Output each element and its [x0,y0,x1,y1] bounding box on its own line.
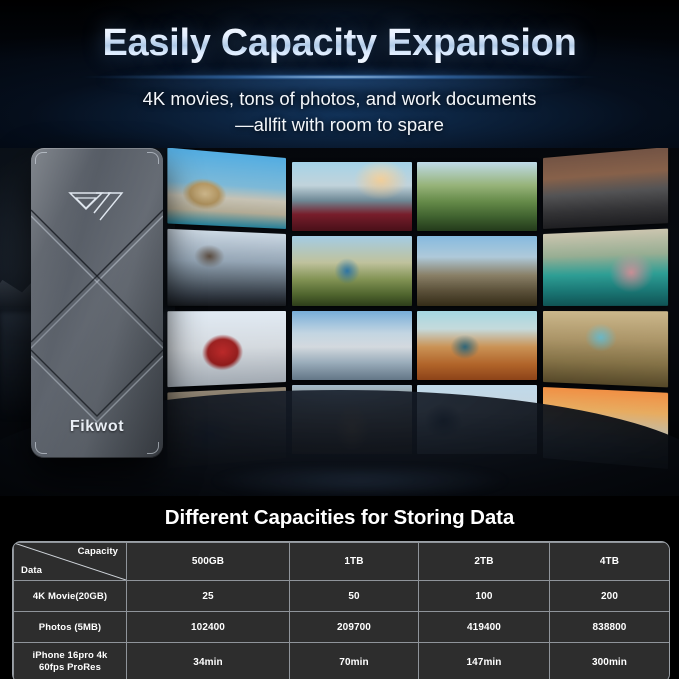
capacity-table: Capacity Data 500GB 1TB 2TB 4TB 4K Movie… [13,542,670,679]
device-x-pattern-icon [31,200,163,430]
cell-4k-movie-500gb: 25 [127,581,290,612]
table-row: iPhone 16pro 4k 60fps ProRes 34min 70min… [14,643,670,679]
cell-4k-movie-2tb: 100 [419,581,550,612]
gallery-photo [167,229,286,305]
row-label-iphone-line-1: iPhone 16pro 4k [14,650,126,662]
gallery-photo [417,311,537,380]
cell-iphone-4tb: 300min [550,643,670,679]
gallery-photo [417,236,537,305]
gallery-photo [543,229,668,306]
hero-subtitle: 4K movies, tons of photos, and work docu… [0,86,679,138]
cell-photos-1tb: 209700 [290,612,419,643]
gallery-photo [543,147,668,229]
cell-4k-movie-1tb: 50 [290,581,419,612]
ssd-device: Fikwot [31,148,163,458]
floor-reflection [150,468,570,494]
page-title: Easily Capacity Expansion [0,22,679,65]
cell-4k-movie-4tb: 200 [550,581,670,612]
row-label-4k-movie: 4K Movie(20GB) [14,581,127,612]
table-corner-cell: Capacity Data [14,543,127,581]
cell-photos-2tb: 419400 [419,612,550,643]
gallery-photo [292,236,412,305]
promo-page: Fikwot Easily Capacity Expansion 4K movi… [0,0,679,679]
gallery-photo [167,148,286,230]
table-row: Photos (5MB) 102400 209700 419400 838800 [14,612,670,643]
capacity-table-wrapper: Capacity Data 500GB 1TB 2TB 4TB 4K Movie… [12,541,670,679]
column-header-1tb: 1TB [290,543,419,581]
hero-subtitle-line-2: —allfit with room to spare [0,112,679,138]
cell-iphone-2tb: 147min [419,643,550,679]
hero-header: Easily Capacity Expansion 4K movies, ton… [0,0,679,148]
table-row: 4K Movie(20GB) 25 50 100 200 [14,581,670,612]
cell-iphone-1tb: 70min [290,643,419,679]
cell-photos-4tb: 838800 [550,612,670,643]
row-label-photos: Photos (5MB) [14,612,127,643]
corner-accent-icon [35,152,47,164]
gallery-photo [292,311,412,380]
row-label-iphone: iPhone 16pro 4k 60fps ProRes [14,643,127,679]
gallery-photo [167,311,286,387]
gallery-photo [543,311,668,388]
column-header-2tb: 2TB [419,543,550,581]
row-label-iphone-line-2: 60fps ProRes [14,662,126,674]
header-capacity-label: Capacity [78,546,118,557]
header-data-label: Data [21,565,42,576]
column-header-4tb: 4TB [550,543,670,581]
hero-subtitle-line-1: 4K movies, tons of photos, and work docu… [0,86,679,112]
cell-photos-500gb: 102400 [127,612,290,643]
cell-iphone-500gb: 34min [127,643,290,679]
table-header-row: Capacity Data 500GB 1TB 2TB 4TB [14,543,670,581]
gallery-photo [417,162,537,231]
column-header-500gb: 500GB [127,543,290,581]
gallery-photo [292,162,412,231]
capacity-section: Different Capacities for Storing Data Ca… [0,496,679,679]
section-title: Different Capacities for Storing Data [0,506,679,530]
device-brand-label: Fikwot [31,418,163,436]
light-streak-divider [60,75,620,79]
